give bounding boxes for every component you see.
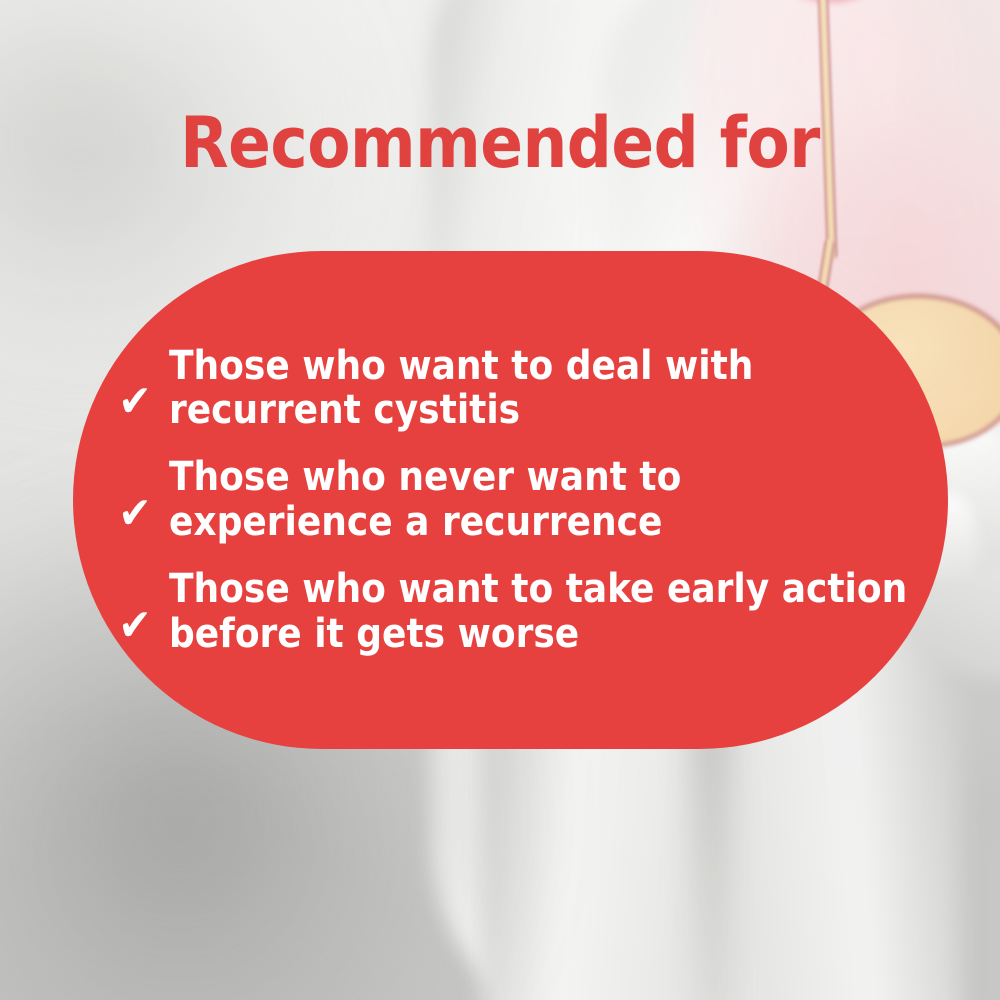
check-icon: ✔	[101, 380, 169, 424]
list-item: ✔ Those who never want to experience a r…	[101, 455, 908, 545]
page-title: Recommended for	[0, 108, 1000, 178]
list-item: ✔ Those who want to deal with recurrent …	[101, 344, 908, 434]
bullet-list: ✔ Those who want to deal with recurrent …	[101, 251, 908, 749]
list-item-label: Those who never want to experience a rec…	[169, 455, 908, 545]
check-icon: ✔	[101, 492, 169, 536]
list-item-label: Those who want to take early action befo…	[169, 567, 908, 657]
poster: Recommended for ✔ Those who want to deal…	[0, 0, 1000, 1000]
check-icon: ✔	[101, 604, 169, 648]
recommended-for-card: ✔ Those who want to deal with recurrent …	[73, 251, 948, 749]
list-item-label: Those who want to deal with recurrent cy…	[169, 344, 908, 434]
list-item: ✔ Those who want to take early action be…	[101, 567, 908, 657]
